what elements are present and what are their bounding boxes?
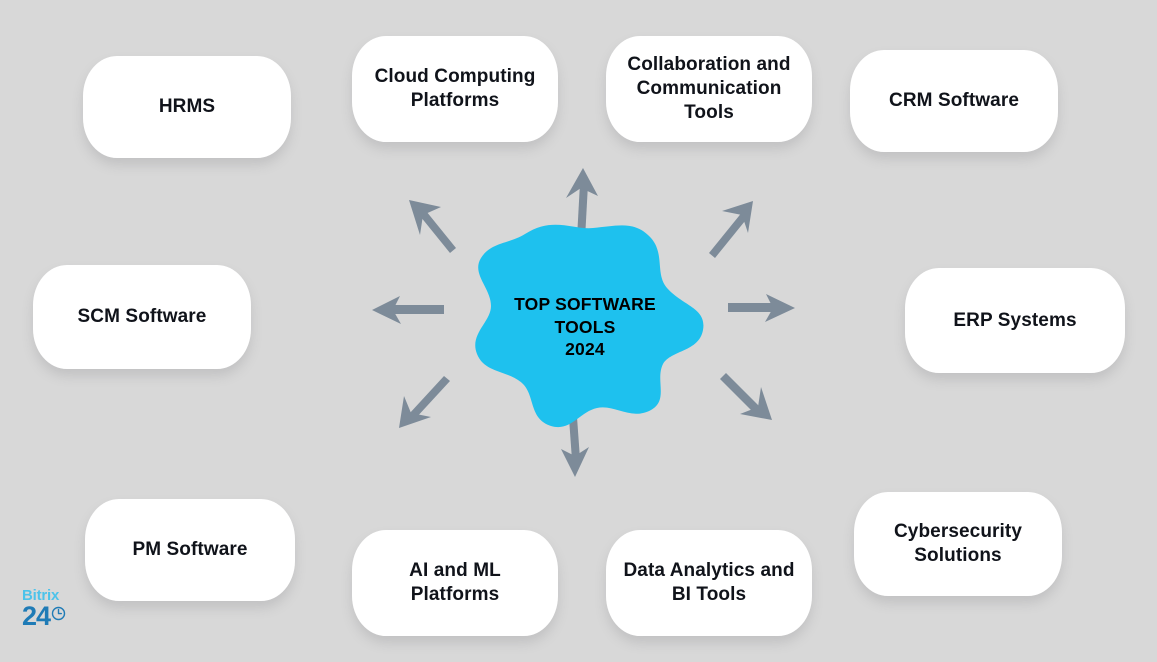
node-card-erp-systems[interactable]: ERP Systems bbox=[905, 268, 1125, 373]
node-label-erp-systems: ERP Systems bbox=[953, 309, 1076, 333]
bitrix24-logo[interactable]: Bitrix 24 bbox=[22, 588, 106, 634]
arrow-left bbox=[372, 296, 444, 324]
node-label-cybersecurity-solutions: Cybersecurity Solutions bbox=[868, 520, 1048, 568]
node-label-ai-and-ml-platforms: AI and ML Platforms bbox=[366, 559, 544, 607]
node-label-data-analytics-and-bi-tools: Data Analytics and BI Tools bbox=[620, 559, 798, 607]
center-blob[interactable]: TOP SOFTWARE TOOLS 2024 bbox=[455, 212, 715, 434]
node-card-cybersecurity-solutions[interactable]: Cybersecurity Solutions bbox=[854, 492, 1062, 596]
node-label-cloud-computing-platforms: Cloud Computing Platforms bbox=[366, 65, 544, 113]
node-card-collaboration-and-communication-tools[interactable]: Collaboration and Communication Tools bbox=[606, 36, 812, 142]
center-line-2: TOOLS bbox=[555, 316, 616, 338]
arrow-right bbox=[728, 294, 795, 322]
node-card-ai-and-ml-platforms[interactable]: AI and ML Platforms bbox=[352, 530, 558, 636]
bitrix-number: 24 bbox=[22, 604, 50, 630]
infographic-canvas: TOP SOFTWARE TOOLS 2024 HRMS Cloud Compu… bbox=[0, 0, 1157, 662]
arrow-down-left bbox=[399, 376, 450, 428]
node-card-crm-software[interactable]: CRM Software bbox=[850, 50, 1058, 152]
arrow-up-right bbox=[709, 201, 753, 258]
arrow-up-left bbox=[409, 200, 456, 253]
arrow-down-right bbox=[720, 373, 772, 420]
node-card-hrms[interactable]: HRMS bbox=[83, 56, 291, 158]
node-label-crm-software: CRM Software bbox=[889, 89, 1019, 113]
node-card-pm-software[interactable]: PM Software bbox=[85, 499, 295, 601]
node-label-scm-software: SCM Software bbox=[78, 305, 207, 329]
center-label: TOP SOFTWARE TOOLS 2024 bbox=[455, 212, 715, 434]
center-line-3: 2024 bbox=[565, 338, 605, 360]
node-card-cloud-computing-platforms[interactable]: Cloud Computing Platforms bbox=[352, 36, 558, 142]
node-card-scm-software[interactable]: SCM Software bbox=[33, 265, 251, 369]
node-label-pm-software: PM Software bbox=[132, 538, 247, 562]
node-card-data-analytics-and-bi-tools[interactable]: Data Analytics and BI Tools bbox=[606, 530, 812, 636]
node-label-hrms: HRMS bbox=[159, 95, 215, 119]
clock-icon bbox=[51, 606, 66, 621]
center-line-1: TOP SOFTWARE bbox=[514, 293, 656, 315]
bitrix-number-row: 24 bbox=[22, 604, 106, 630]
node-label-collaboration-and-communication-tools: Collaboration and Communication Tools bbox=[620, 53, 798, 125]
